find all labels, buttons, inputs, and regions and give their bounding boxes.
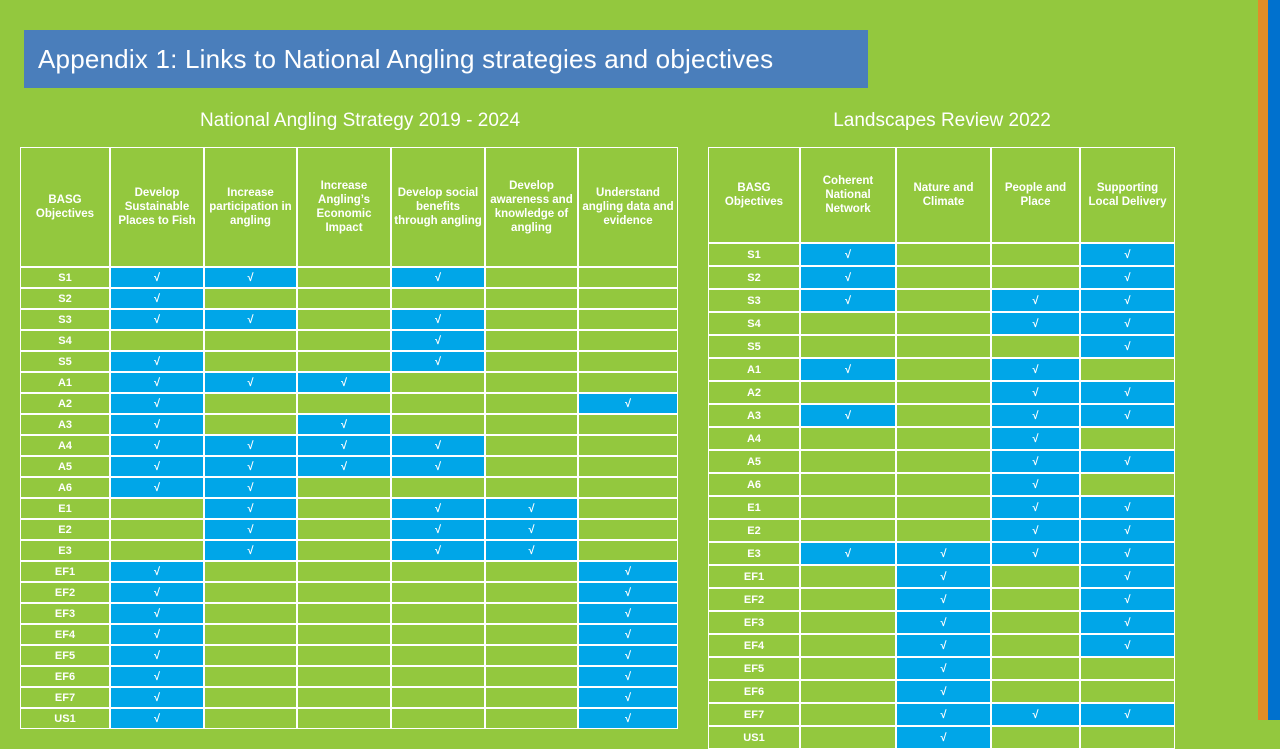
mark-cell-empty (485, 687, 578, 708)
mark-cell-empty (204, 351, 297, 372)
mark-cell-empty (1080, 473, 1175, 496)
mark-cell-empty (896, 450, 991, 473)
mark-cell-checked: √ (991, 542, 1080, 565)
check-tick-icon: √ (845, 295, 851, 307)
mark-cell-checked: √ (896, 565, 991, 588)
mark-cell-checked: √ (297, 372, 391, 393)
mark-cell-checked: √ (110, 645, 204, 666)
mark-cell-checked: √ (1080, 404, 1175, 427)
mark-cell-checked: √ (1080, 565, 1175, 588)
column-header-4: Develop social benefits through angling (391, 147, 485, 267)
mark-cell-checked: √ (110, 372, 204, 393)
check-tick-icon: √ (247, 314, 253, 326)
mark-cell-empty (578, 288, 678, 309)
check-tick-icon: √ (154, 272, 160, 284)
mark-cell-checked: √ (578, 561, 678, 582)
objective-code-cell: E3 (708, 542, 800, 565)
mark-cell-empty (991, 634, 1080, 657)
table-row: A6√ (708, 473, 1175, 496)
table-row: EF1√√ (20, 561, 678, 582)
mark-cell-empty (896, 335, 991, 358)
mark-cell-empty (391, 603, 485, 624)
check-tick-icon: √ (625, 398, 631, 410)
check-tick-icon: √ (435, 461, 441, 473)
mark-cell-checked: √ (204, 498, 297, 519)
mark-cell-checked: √ (110, 309, 204, 330)
mark-cell-checked: √ (991, 473, 1080, 496)
mark-cell-checked: √ (578, 624, 678, 645)
objective-code-cell: EF6 (708, 680, 800, 703)
mark-cell-checked: √ (110, 288, 204, 309)
mark-cell-empty (485, 561, 578, 582)
check-tick-icon: √ (625, 566, 631, 578)
mark-cell-empty (391, 624, 485, 645)
mark-cell-checked: √ (1080, 496, 1175, 519)
check-tick-icon: √ (247, 545, 253, 557)
objective-code-cell: EF2 (708, 588, 800, 611)
objective-code-cell: A4 (708, 427, 800, 450)
mark-cell-empty (297, 330, 391, 351)
mark-cell-empty (297, 309, 391, 330)
mark-cell-empty (485, 393, 578, 414)
table-header-row: BASG ObjectivesCoherent National Network… (708, 147, 1175, 243)
table-row: A5√√√√ (20, 456, 678, 477)
mark-cell-checked: √ (991, 427, 1080, 450)
mark-cell-checked: √ (391, 267, 485, 288)
objective-code-cell: A3 (708, 404, 800, 427)
mark-cell-empty (204, 561, 297, 582)
mark-cell-checked: √ (800, 404, 896, 427)
mark-cell-checked: √ (297, 435, 391, 456)
table-row: E2√√ (708, 519, 1175, 542)
table-row: S5√√ (20, 351, 678, 372)
table-row: S1√√√ (20, 267, 678, 288)
mark-cell-empty (800, 703, 896, 726)
check-tick-icon: √ (1032, 364, 1038, 376)
mark-cell-checked: √ (1080, 450, 1175, 473)
table-row: E3√√√√ (708, 542, 1175, 565)
mark-cell-empty (991, 726, 1080, 749)
objective-code-cell: US1 (708, 726, 800, 749)
check-tick-icon: √ (154, 293, 160, 305)
mark-cell-empty (204, 603, 297, 624)
column-header-0: BASG Objectives (20, 147, 110, 267)
check-tick-icon: √ (435, 440, 441, 452)
mark-cell-checked: √ (204, 477, 297, 498)
objective-code-cell: EF4 (20, 624, 110, 645)
check-tick-icon: √ (625, 587, 631, 599)
mark-cell-empty (297, 687, 391, 708)
table-row: A4√√√√ (20, 435, 678, 456)
mark-cell-checked: √ (578, 708, 678, 729)
mark-cell-checked: √ (297, 456, 391, 477)
mark-cell-checked: √ (204, 372, 297, 393)
check-tick-icon: √ (247, 272, 253, 284)
mark-cell-empty (297, 393, 391, 414)
slide-title-banner: Appendix 1: Links to National Angling st… (24, 30, 868, 88)
objective-code-cell: S2 (20, 288, 110, 309)
landscapes-review-table: BASG ObjectivesCoherent National Network… (708, 147, 1175, 749)
mark-cell-checked: √ (391, 351, 485, 372)
check-tick-icon: √ (1032, 479, 1038, 491)
check-tick-icon: √ (1124, 295, 1130, 307)
mark-cell-empty (800, 634, 896, 657)
column-header-3: Increase Angling’s Economic Impact (297, 147, 391, 267)
table-row: EF3√√ (20, 603, 678, 624)
mark-cell-empty (1080, 726, 1175, 749)
table-row: A1√√√ (20, 372, 678, 393)
check-tick-icon: √ (1124, 387, 1130, 399)
column-header-4: Supporting Local Delivery (1080, 147, 1175, 243)
mark-cell-checked: √ (896, 703, 991, 726)
objective-code-cell: S4 (20, 330, 110, 351)
check-tick-icon: √ (1124, 571, 1130, 583)
mark-cell-empty (800, 565, 896, 588)
check-tick-icon: √ (1124, 456, 1130, 468)
mark-cell-empty (204, 687, 297, 708)
mark-cell-empty (578, 456, 678, 477)
table-row: A6√√ (20, 477, 678, 498)
mark-cell-checked: √ (110, 477, 204, 498)
mark-cell-empty (800, 519, 896, 542)
mark-cell-empty (800, 312, 896, 335)
check-tick-icon: √ (154, 587, 160, 599)
objective-code-cell: S1 (20, 267, 110, 288)
table-row: EF7√√ (20, 687, 678, 708)
mark-cell-empty (204, 624, 297, 645)
mark-cell-empty (578, 477, 678, 498)
objective-code-cell: E3 (20, 540, 110, 561)
table-row: E3√√√ (20, 540, 678, 561)
mark-cell-checked: √ (1080, 266, 1175, 289)
mark-cell-empty (297, 267, 391, 288)
objective-code-cell: S3 (708, 289, 800, 312)
mark-cell-checked: √ (578, 393, 678, 414)
table-row: A2√√ (708, 381, 1175, 404)
mark-cell-empty (800, 450, 896, 473)
check-tick-icon: √ (1032, 295, 1038, 307)
mark-cell-checked: √ (991, 381, 1080, 404)
mark-cell-checked: √ (578, 582, 678, 603)
mark-cell-empty (297, 666, 391, 687)
mark-cell-empty (578, 267, 678, 288)
mark-cell-empty (578, 435, 678, 456)
mark-cell-empty (297, 561, 391, 582)
check-tick-icon: √ (1124, 272, 1130, 284)
mark-cell-empty (110, 330, 204, 351)
objective-code-cell: S2 (708, 266, 800, 289)
mark-cell-checked: √ (391, 540, 485, 561)
mark-cell-empty (578, 309, 678, 330)
mark-cell-empty (485, 267, 578, 288)
table-row: A3√√ (20, 414, 678, 435)
mark-cell-empty (800, 611, 896, 634)
mark-cell-checked: √ (896, 680, 991, 703)
check-tick-icon: √ (625, 629, 631, 641)
objective-code-cell: A3 (20, 414, 110, 435)
mark-cell-empty (204, 582, 297, 603)
objective-code-cell: E1 (20, 498, 110, 519)
check-tick-icon: √ (528, 503, 534, 515)
check-tick-icon: √ (435, 524, 441, 536)
objective-code-cell: A6 (20, 477, 110, 498)
mark-cell-empty (204, 645, 297, 666)
table-row: E1√√ (708, 496, 1175, 519)
mark-cell-empty (800, 496, 896, 519)
mark-cell-empty (110, 540, 204, 561)
column-header-1: Coherent National Network (800, 147, 896, 243)
mark-cell-checked: √ (110, 435, 204, 456)
mark-cell-checked: √ (991, 519, 1080, 542)
table-row: EF7√√√ (708, 703, 1175, 726)
mark-cell-empty (1080, 358, 1175, 381)
check-tick-icon: √ (1032, 709, 1038, 721)
table-row: EF3√√ (708, 611, 1175, 634)
mark-cell-checked: √ (896, 542, 991, 565)
check-tick-icon: √ (247, 440, 253, 452)
check-tick-icon: √ (940, 640, 946, 652)
mark-cell-empty (896, 289, 991, 312)
check-tick-icon: √ (1032, 410, 1038, 422)
mark-cell-checked: √ (991, 404, 1080, 427)
table-row: S3√√√ (20, 309, 678, 330)
mark-cell-checked: √ (110, 708, 204, 729)
mark-cell-checked: √ (800, 243, 896, 266)
table-row: EF1√√ (708, 565, 1175, 588)
mark-cell-empty (297, 477, 391, 498)
mark-cell-empty (204, 666, 297, 687)
mark-cell-checked: √ (896, 634, 991, 657)
check-tick-icon: √ (845, 410, 851, 422)
table-row: E1√√√ (20, 498, 678, 519)
check-tick-icon: √ (154, 566, 160, 578)
mark-cell-checked: √ (391, 330, 485, 351)
check-tick-icon: √ (435, 272, 441, 284)
mark-cell-empty (991, 588, 1080, 611)
mark-cell-empty (896, 381, 991, 404)
mark-cell-checked: √ (1080, 289, 1175, 312)
mark-cell-empty (391, 288, 485, 309)
objective-code-cell: S5 (708, 335, 800, 358)
mark-cell-checked: √ (204, 519, 297, 540)
mark-cell-checked: √ (204, 456, 297, 477)
check-tick-icon: √ (435, 335, 441, 347)
check-tick-icon: √ (154, 671, 160, 683)
mark-cell-checked: √ (110, 687, 204, 708)
page-title: Appendix 1: Links to National Angling st… (24, 44, 773, 75)
check-tick-icon: √ (154, 608, 160, 620)
column-header-0: BASG Objectives (708, 147, 800, 243)
mark-cell-empty (896, 266, 991, 289)
mark-cell-empty (204, 393, 297, 414)
mark-cell-checked: √ (578, 666, 678, 687)
mark-cell-empty (578, 540, 678, 561)
mark-cell-empty (485, 477, 578, 498)
mark-cell-empty (578, 372, 678, 393)
column-header-3: People and Place (991, 147, 1080, 243)
mark-cell-empty (800, 473, 896, 496)
table-row: EF6√√ (20, 666, 678, 687)
check-tick-icon: √ (247, 377, 253, 389)
mark-cell-checked: √ (110, 267, 204, 288)
check-tick-icon: √ (154, 314, 160, 326)
check-tick-icon: √ (247, 503, 253, 515)
right-table-caption: Landscapes Review 2022 (708, 110, 1176, 132)
objective-code-cell: US1 (20, 708, 110, 729)
mark-cell-empty (578, 498, 678, 519)
table-row: EF5√√ (20, 645, 678, 666)
mark-cell-empty (391, 708, 485, 729)
check-tick-icon: √ (154, 482, 160, 494)
check-tick-icon: √ (528, 524, 534, 536)
check-tick-icon: √ (1124, 341, 1130, 353)
mark-cell-checked: √ (110, 666, 204, 687)
mark-cell-empty (391, 477, 485, 498)
mark-cell-empty (485, 603, 578, 624)
mark-cell-checked: √ (800, 358, 896, 381)
mark-cell-checked: √ (1080, 634, 1175, 657)
check-tick-icon: √ (154, 650, 160, 662)
mark-cell-checked: √ (800, 542, 896, 565)
check-tick-icon: √ (1032, 548, 1038, 560)
mark-cell-empty (896, 358, 991, 381)
mark-cell-empty (485, 288, 578, 309)
check-tick-icon: √ (247, 461, 253, 473)
mark-cell-checked: √ (110, 582, 204, 603)
mark-cell-checked: √ (578, 645, 678, 666)
table-row: S3√√√ (708, 289, 1175, 312)
table-row: A2√√ (20, 393, 678, 414)
table-row: S1√√ (708, 243, 1175, 266)
check-tick-icon: √ (154, 713, 160, 725)
objective-code-cell: A5 (708, 450, 800, 473)
check-tick-icon: √ (435, 314, 441, 326)
mark-cell-checked: √ (391, 456, 485, 477)
mark-cell-empty (485, 330, 578, 351)
mark-cell-checked: √ (991, 450, 1080, 473)
check-tick-icon: √ (940, 732, 946, 744)
objective-code-cell: S5 (20, 351, 110, 372)
check-tick-icon: √ (1124, 548, 1130, 560)
mark-cell-checked: √ (1080, 519, 1175, 542)
mark-cell-checked: √ (578, 603, 678, 624)
mark-cell-checked: √ (1080, 611, 1175, 634)
objective-code-cell: A6 (708, 473, 800, 496)
right-table-head: BASG ObjectivesCoherent National Network… (708, 147, 1175, 243)
mark-cell-empty (110, 519, 204, 540)
check-tick-icon: √ (154, 419, 160, 431)
check-tick-icon: √ (341, 440, 347, 452)
column-header-2: Increase participation in angling (204, 147, 297, 267)
mark-cell-empty (1080, 657, 1175, 680)
mark-cell-checked: √ (110, 456, 204, 477)
check-tick-icon: √ (940, 617, 946, 629)
objective-code-cell: S4 (708, 312, 800, 335)
mark-cell-empty (391, 645, 485, 666)
check-tick-icon: √ (154, 461, 160, 473)
mark-cell-empty (485, 456, 578, 477)
mark-cell-empty (485, 708, 578, 729)
mark-cell-empty (485, 309, 578, 330)
mark-cell-empty (800, 680, 896, 703)
objective-code-cell: EF5 (20, 645, 110, 666)
check-tick-icon: √ (1124, 410, 1130, 422)
objective-code-cell: EF5 (708, 657, 800, 680)
mark-cell-checked: √ (896, 588, 991, 611)
table-row: S4√ (20, 330, 678, 351)
check-tick-icon: √ (1032, 525, 1038, 537)
check-tick-icon: √ (625, 671, 631, 683)
mark-cell-checked: √ (204, 435, 297, 456)
mark-cell-checked: √ (1080, 588, 1175, 611)
mark-cell-empty (204, 708, 297, 729)
column-header-6: Understand angling data and evidence (578, 147, 678, 267)
mark-cell-checked: √ (485, 519, 578, 540)
table-row: US1√√ (20, 708, 678, 729)
mark-cell-empty (297, 351, 391, 372)
check-tick-icon: √ (1124, 318, 1130, 330)
objective-code-cell: EF7 (20, 687, 110, 708)
mark-cell-empty (896, 496, 991, 519)
table-row: S5√ (708, 335, 1175, 358)
check-tick-icon: √ (1124, 709, 1130, 721)
mark-cell-empty (297, 519, 391, 540)
mark-cell-empty (110, 498, 204, 519)
mark-cell-empty (896, 404, 991, 427)
mark-cell-empty (991, 266, 1080, 289)
mark-cell-checked: √ (1080, 312, 1175, 335)
check-tick-icon: √ (247, 524, 253, 536)
mark-cell-checked: √ (991, 496, 1080, 519)
mark-cell-empty (391, 666, 485, 687)
mark-cell-checked: √ (1080, 335, 1175, 358)
check-tick-icon: √ (940, 663, 946, 675)
mark-cell-empty (297, 708, 391, 729)
mark-cell-empty (896, 473, 991, 496)
mark-cell-empty (297, 645, 391, 666)
check-tick-icon: √ (1124, 502, 1130, 514)
table-row: S2√√ (708, 266, 1175, 289)
mark-cell-checked: √ (991, 312, 1080, 335)
check-tick-icon: √ (247, 482, 253, 494)
table-row: EF4√√ (20, 624, 678, 645)
table-row: A4√ (708, 427, 1175, 450)
mark-cell-empty (391, 582, 485, 603)
mark-cell-checked: √ (204, 309, 297, 330)
table-row: EF4√√ (708, 634, 1175, 657)
check-tick-icon: √ (154, 377, 160, 389)
table-row: A1√√ (708, 358, 1175, 381)
mark-cell-checked: √ (896, 657, 991, 680)
left-table-body: S1√√√S2√S3√√√S4√S5√√A1√√√A2√√A3√√A4√√√√A… (20, 267, 678, 729)
mark-cell-empty (204, 330, 297, 351)
table-row: EF2√√ (20, 582, 678, 603)
mark-cell-checked: √ (110, 414, 204, 435)
national-angling-strategy-table: BASG ObjectivesDevelop Sustainable Place… (20, 147, 678, 729)
check-tick-icon: √ (940, 548, 946, 560)
table-row: EF6√ (708, 680, 1175, 703)
mark-cell-checked: √ (991, 358, 1080, 381)
column-header-2: Nature and Climate (896, 147, 991, 243)
mark-cell-empty (485, 372, 578, 393)
table-row: S4√√ (708, 312, 1175, 335)
mark-cell-checked: √ (391, 498, 485, 519)
mark-cell-empty (485, 351, 578, 372)
mark-cell-empty (485, 414, 578, 435)
mark-cell-checked: √ (485, 540, 578, 561)
check-tick-icon: √ (1124, 617, 1130, 629)
mark-cell-empty (800, 381, 896, 404)
